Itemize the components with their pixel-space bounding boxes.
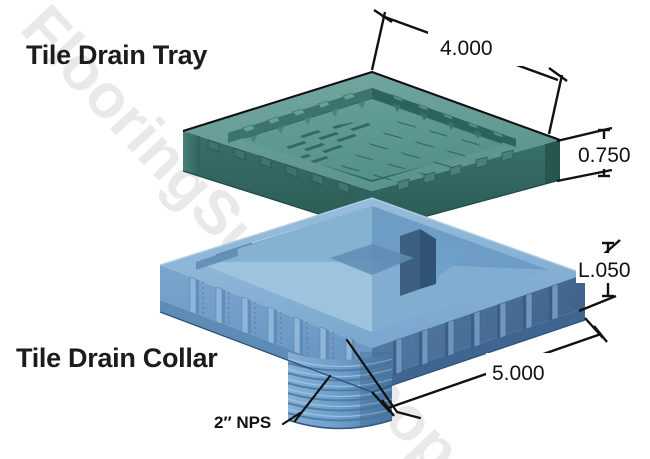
dimension-tray-height: 0.750 (557, 128, 650, 181)
dimension-value-tray-height: 0.750 (578, 144, 631, 167)
dimension-value-collar-height: L.050 (578, 259, 631, 282)
part-label-collar: Tile Drain Collar (16, 343, 218, 373)
part-label-tray: Tile Drain Tray (26, 40, 207, 70)
callout-label-nps: 2″ NPS (214, 413, 271, 432)
drawing-canvas: FlooringSupplyShop.com (0, 0, 650, 459)
dim-tick-right-collar-width (594, 326, 607, 342)
dimension-collar-height: L.050 (576, 240, 650, 311)
dimension-value-tray-width: 4.000 (440, 37, 493, 60)
dim-ext-line-right (549, 75, 562, 134)
dim-ext-line-left (372, 12, 385, 70)
assembly-drawing: FlooringSupplyShop.com (0, 0, 650, 459)
collar-baffle-fin-side (420, 229, 436, 289)
tray-right-corner-face (545, 140, 560, 184)
collar-baffle-fin (400, 229, 420, 296)
dimension-value-collar-width: 5.000 (492, 362, 545, 385)
tray-left-corner-face (183, 131, 200, 176)
